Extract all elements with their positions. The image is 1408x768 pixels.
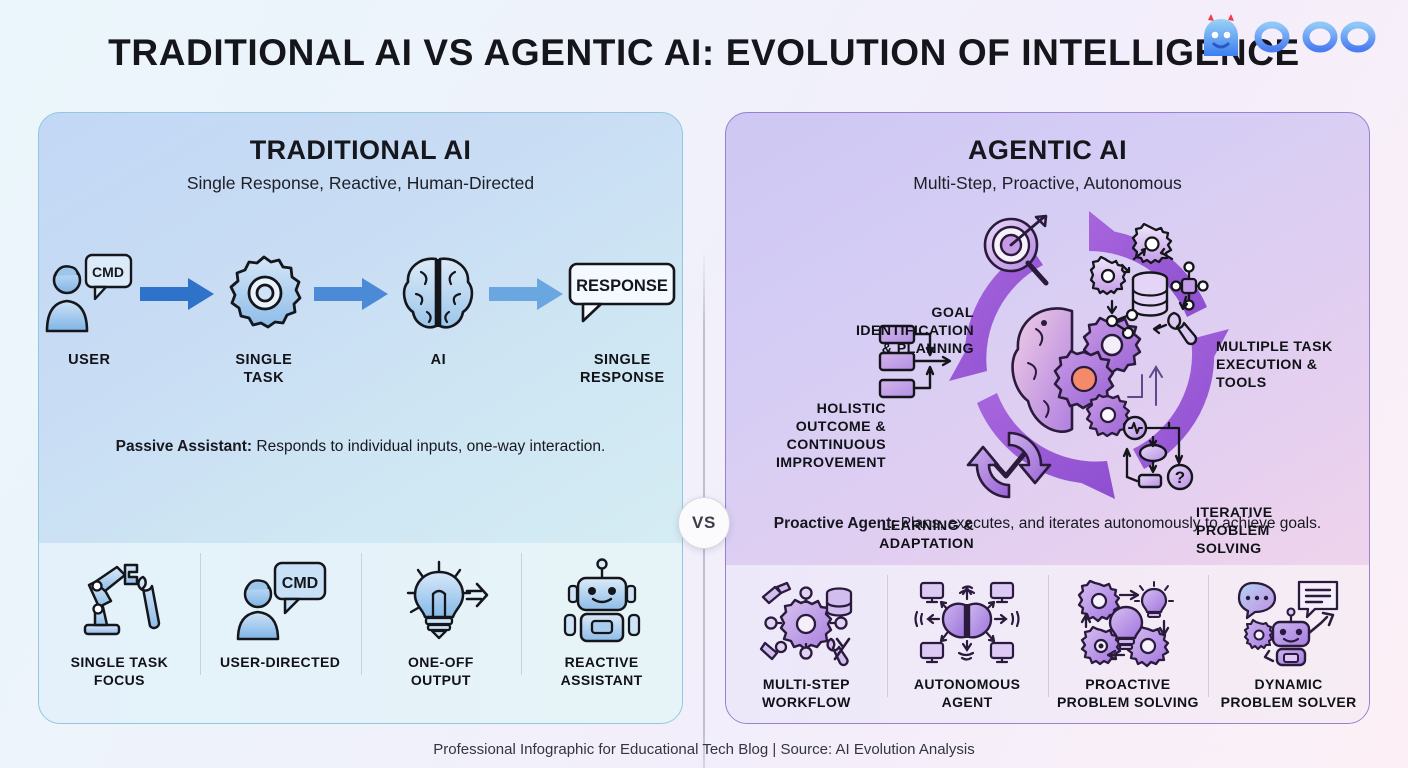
flow-label-user: USER <box>39 351 140 369</box>
left-tagline-bold: Passive Assistant: <box>116 438 252 455</box>
left-feature-strip: SINGLE TASK FOCUS CMD USER-DIREC <box>39 543 682 723</box>
feature-one-off-output: ONE-OFF OUTPUT <box>361 543 522 689</box>
feature-label: ONE-OFF OUTPUT <box>361 653 522 689</box>
traditional-flow: CMD USER <box>39 251 682 388</box>
cycle-label-goal: GOAL IDENTIFICATION & PLANNING <box>834 305 974 359</box>
feature-dynamic-problem-solver: DYNAMIC PROBLEM SOLVER <box>1208 565 1369 711</box>
flowchart-question-icon: ? <box>1121 415 1201 493</box>
svg-text:CMD: CMD <box>92 264 124 280</box>
feature-label: REACTIVE ASSISTANT <box>521 653 682 689</box>
right-tagline-rest: Plans, executes, and iterates autonomous… <box>896 515 1321 532</box>
feature-autonomous-agent: AUTONOMOUS AGENT <box>887 565 1048 711</box>
brain-devices-icon <box>887 581 1048 665</box>
flow-node-single-task: SINGLE TASK <box>214 251 315 388</box>
flow-node-ai: AI <box>388 251 489 369</box>
feature-label: SINGLE TASK FOCUS <box>39 653 200 689</box>
small-bulb <box>1135 582 1173 617</box>
svg-text:CMD: CMD <box>282 575 318 592</box>
panel-left-title: TRADITIONAL AI <box>39 135 682 166</box>
panel-agentic-ai: AGENTIC AI Multi-Step, Proactive, Autono… <box>725 112 1370 724</box>
target-magnifier-icon <box>978 215 1056 289</box>
panel-right-subtitle: Multi-Step, Proactive, Autonomous <box>726 173 1369 194</box>
gear-icon <box>214 251 315 337</box>
cycle-label-tools: MULTIPLE TASK EXECUTION & TOOLS <box>1216 339 1366 393</box>
right-feature-strip: MULTI-STEP WORKFLOW <box>726 565 1369 723</box>
feature-user-directed: CMD USER-DIRECTED <box>200 543 361 671</box>
network-gear-tools-icon <box>726 581 887 665</box>
cycle-label-holistic: HOLISTIC OUTCOME & CONTINUOUS IMPROVEMEN… <box>736 401 886 473</box>
feature-proactive-problem-solving: PROACTIVE PROBLEM SOLVING <box>1048 565 1209 711</box>
feature-reactive-assistant: REACTIVE ASSISTANT <box>521 543 682 689</box>
comparison-panels: TRADITIONAL AI Single Response, Reactive… <box>0 112 1408 724</box>
brain-icon <box>388 251 489 337</box>
refresh-check-icon <box>966 423 1052 507</box>
footer-caption: Professional Infographic for Educational… <box>0 741 1408 758</box>
user-with-cmd-bubble-icon: CMD <box>39 251 140 337</box>
panel-right-title: AGENTIC AI <box>726 135 1369 166</box>
brand-logo[interactable] <box>1198 14 1386 60</box>
feature-label: MULTI-STEP WORKFLOW <box>726 675 887 711</box>
feature-label: USER-DIRECTED <box>200 653 361 671</box>
panel-traditional-ai: TRADITIONAL AI Single Response, Reactive… <box>38 112 683 724</box>
right-tagline-bold: Proactive Agent: <box>774 515 897 532</box>
flow-arrow-3 <box>489 251 563 337</box>
flow-label-single-task: SINGLE TASK <box>214 351 315 388</box>
page-title: TRADITIONAL AI VS AGENTIC AI: EVOLUTION … <box>0 32 1408 74</box>
lightbulb-arrow-icon <box>361 559 522 643</box>
database-gears-wrench-icon <box>1098 237 1210 347</box>
left-tagline: Passive Assistant: Responds to individua… <box>39 438 682 456</box>
left-tagline-rest: Responds to individual inputs, one-way i… <box>252 438 605 455</box>
svg-text:?: ? <box>1175 468 1185 487</box>
feature-label: DYNAMIC PROBLEM SOLVER <box>1208 675 1369 711</box>
user-cmd-icon: CMD <box>200 559 361 643</box>
feature-single-task-focus: SINGLE TASK FOCUS <box>39 543 200 689</box>
feature-multi-step-workflow: MULTI-STEP WORKFLOW <box>726 565 887 711</box>
response-bubble-icon: RESPONSE <box>563 251 682 337</box>
flow-node-user: CMD USER <box>39 251 140 369</box>
svg-text:RESPONSE: RESPONSE <box>576 277 668 295</box>
flow-label-ai: AI <box>388 351 489 369</box>
panel-left-header: TRADITIONAL AI Single Response, Reactive… <box>39 113 682 194</box>
flow-node-single-response: RESPONSE SINGLE RESPONSE <box>563 251 682 388</box>
gears-bulb-cycle-icon <box>1048 581 1209 665</box>
panel-right-header: AGENTIC AI Multi-Step, Proactive, Autono… <box>726 113 1369 194</box>
robot-arm-wrench-icon <box>39 559 200 643</box>
header: TRADITIONAL AI VS AGENTIC AI: EVOLUTION … <box>0 0 1408 96</box>
agentic-cycle: ? <box>726 205 1369 535</box>
flow-arrow-1 <box>140 251 214 337</box>
flow-arrow-2 <box>314 251 388 337</box>
vs-badge: VS <box>678 497 730 549</box>
robot-icon <box>521 559 682 643</box>
right-tagline: Proactive Agent: Plans, executes, and it… <box>726 515 1369 533</box>
logo-wordmark <box>1246 15 1386 59</box>
robot-mascot-icon <box>1198 14 1244 60</box>
robot-chat-icon <box>1208 581 1369 665</box>
feature-label: AUTONOMOUS AGENT <box>887 675 1048 711</box>
flow-label-single-response: SINGLE RESPONSE <box>563 351 682 388</box>
feature-label: PROACTIVE PROBLEM SOLVING <box>1048 675 1209 711</box>
panel-left-subtitle: Single Response, Reactive, Human-Directe… <box>39 173 682 194</box>
database-shape <box>1133 273 1167 316</box>
